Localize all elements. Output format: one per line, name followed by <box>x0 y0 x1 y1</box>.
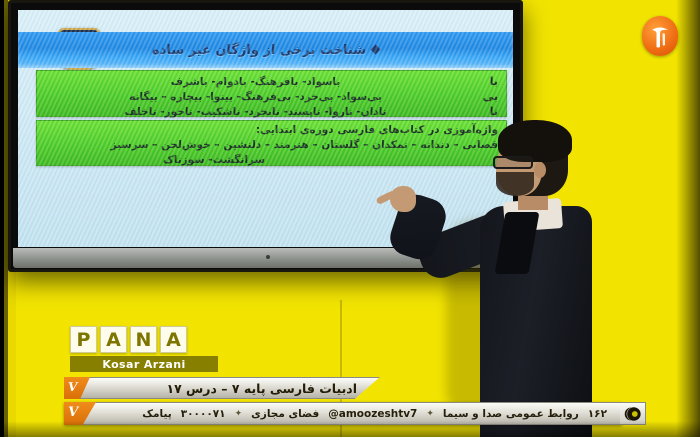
public-relations-label: روابط عمومی صدا و سیما <box>443 408 579 420</box>
prefix-words: باسواد- بافرهنگ- بادوام- باشرف <box>43 76 468 88</box>
slide-header: شناخت برخی از واژگان غیر ساده <box>18 32 513 68</box>
prefix-row: بی بی‌سواد- بی‌خرد- بی‌فرهنگ- بینوا- بیچ… <box>43 89 498 104</box>
presenter-ear <box>534 162 546 178</box>
social-handle[interactable]: @amoozeshtv7 <box>328 408 417 420</box>
prefix-row: نا نادان- ناروا- ناپسند- نابخرد- ناشکیب-… <box>43 104 498 119</box>
virtual-space-label: فضای مجازی <box>251 408 319 420</box>
pana-letter: A <box>160 326 187 353</box>
wall-shadow-right <box>676 0 700 437</box>
lesson-title-bar: ادبیات فارسی پایه ۷ – درس ۱۷ <box>64 377 380 399</box>
vocabulary-words-cont: سرانگشت- سوزناک <box>43 154 498 169</box>
presenter-hand <box>390 186 416 212</box>
prefix-words: نادان- ناروا- ناپسند- نابخرد- ناشکیب- نا… <box>43 106 468 118</box>
flag-letter: V <box>67 380 79 394</box>
ticker-separator-icon: ✦ <box>426 409 434 419</box>
prefix-label: نا <box>476 105 498 118</box>
vocabulary-words: قصابی – دندانه – نمکدان – گلستان – هنرمن… <box>43 139 498 154</box>
prefix-words: بی‌سواد- بی‌خرد- بی‌فرهنگ- بینوا- بیچاره… <box>43 91 468 103</box>
slide-title: شناخت برخی از واژگان غیر ساده <box>152 43 366 58</box>
presenter-name-caption: Kosar Arzani <box>70 356 218 372</box>
prefix-label: با <box>476 75 498 88</box>
sms-number: ۳۰۰۰۰۷۱ <box>181 408 226 420</box>
floor-shadow <box>0 421 700 437</box>
pana-letter: A <box>100 326 127 353</box>
presenter-glasses-icon <box>493 156 533 169</box>
channel-logo-icon <box>642 16 678 56</box>
prefix-row: با باسواد- بافرهنگ- بادوام- باشرف <box>43 74 498 89</box>
vocabulary-heading: واژه‌آموزی در کتاب‌های فارسی دوره‌ی ابتد… <box>43 124 498 139</box>
prefix-label: بی <box>476 90 498 103</box>
tv-sensor-icon <box>266 255 270 259</box>
pana-letter: N <box>130 326 157 353</box>
public-relations-number: ۱۶۲ <box>588 408 607 420</box>
sms-label: پیامک <box>142 408 171 420</box>
pana-logo: P A N A <box>70 326 230 353</box>
prefix-words-block: با باسواد- بافرهنگ- بادوام- باشرف بی بی‌… <box>36 70 507 117</box>
vocabulary-block: واژه‌آموزی در کتاب‌های فارسی دوره‌ی ابتد… <box>36 120 507 166</box>
pana-watermark: P A N A Kosar Arzani <box>70 326 230 374</box>
presenter-beard <box>496 172 534 196</box>
ticker-separator-icon: ✦ <box>235 409 243 419</box>
flag-letter: V <box>67 405 80 420</box>
studio-stage: شبکه آموزش شناخت برخی از واژگان غیر ساده… <box>0 0 700 437</box>
pana-letter: P <box>70 326 97 353</box>
lesson-title: ادبیات فارسی پایه ۷ – درس ۱۷ <box>166 381 357 396</box>
diamond-bullet-icon <box>371 44 381 54</box>
slide-header-text: شناخت برخی از واژگان غیر ساده <box>152 43 379 58</box>
